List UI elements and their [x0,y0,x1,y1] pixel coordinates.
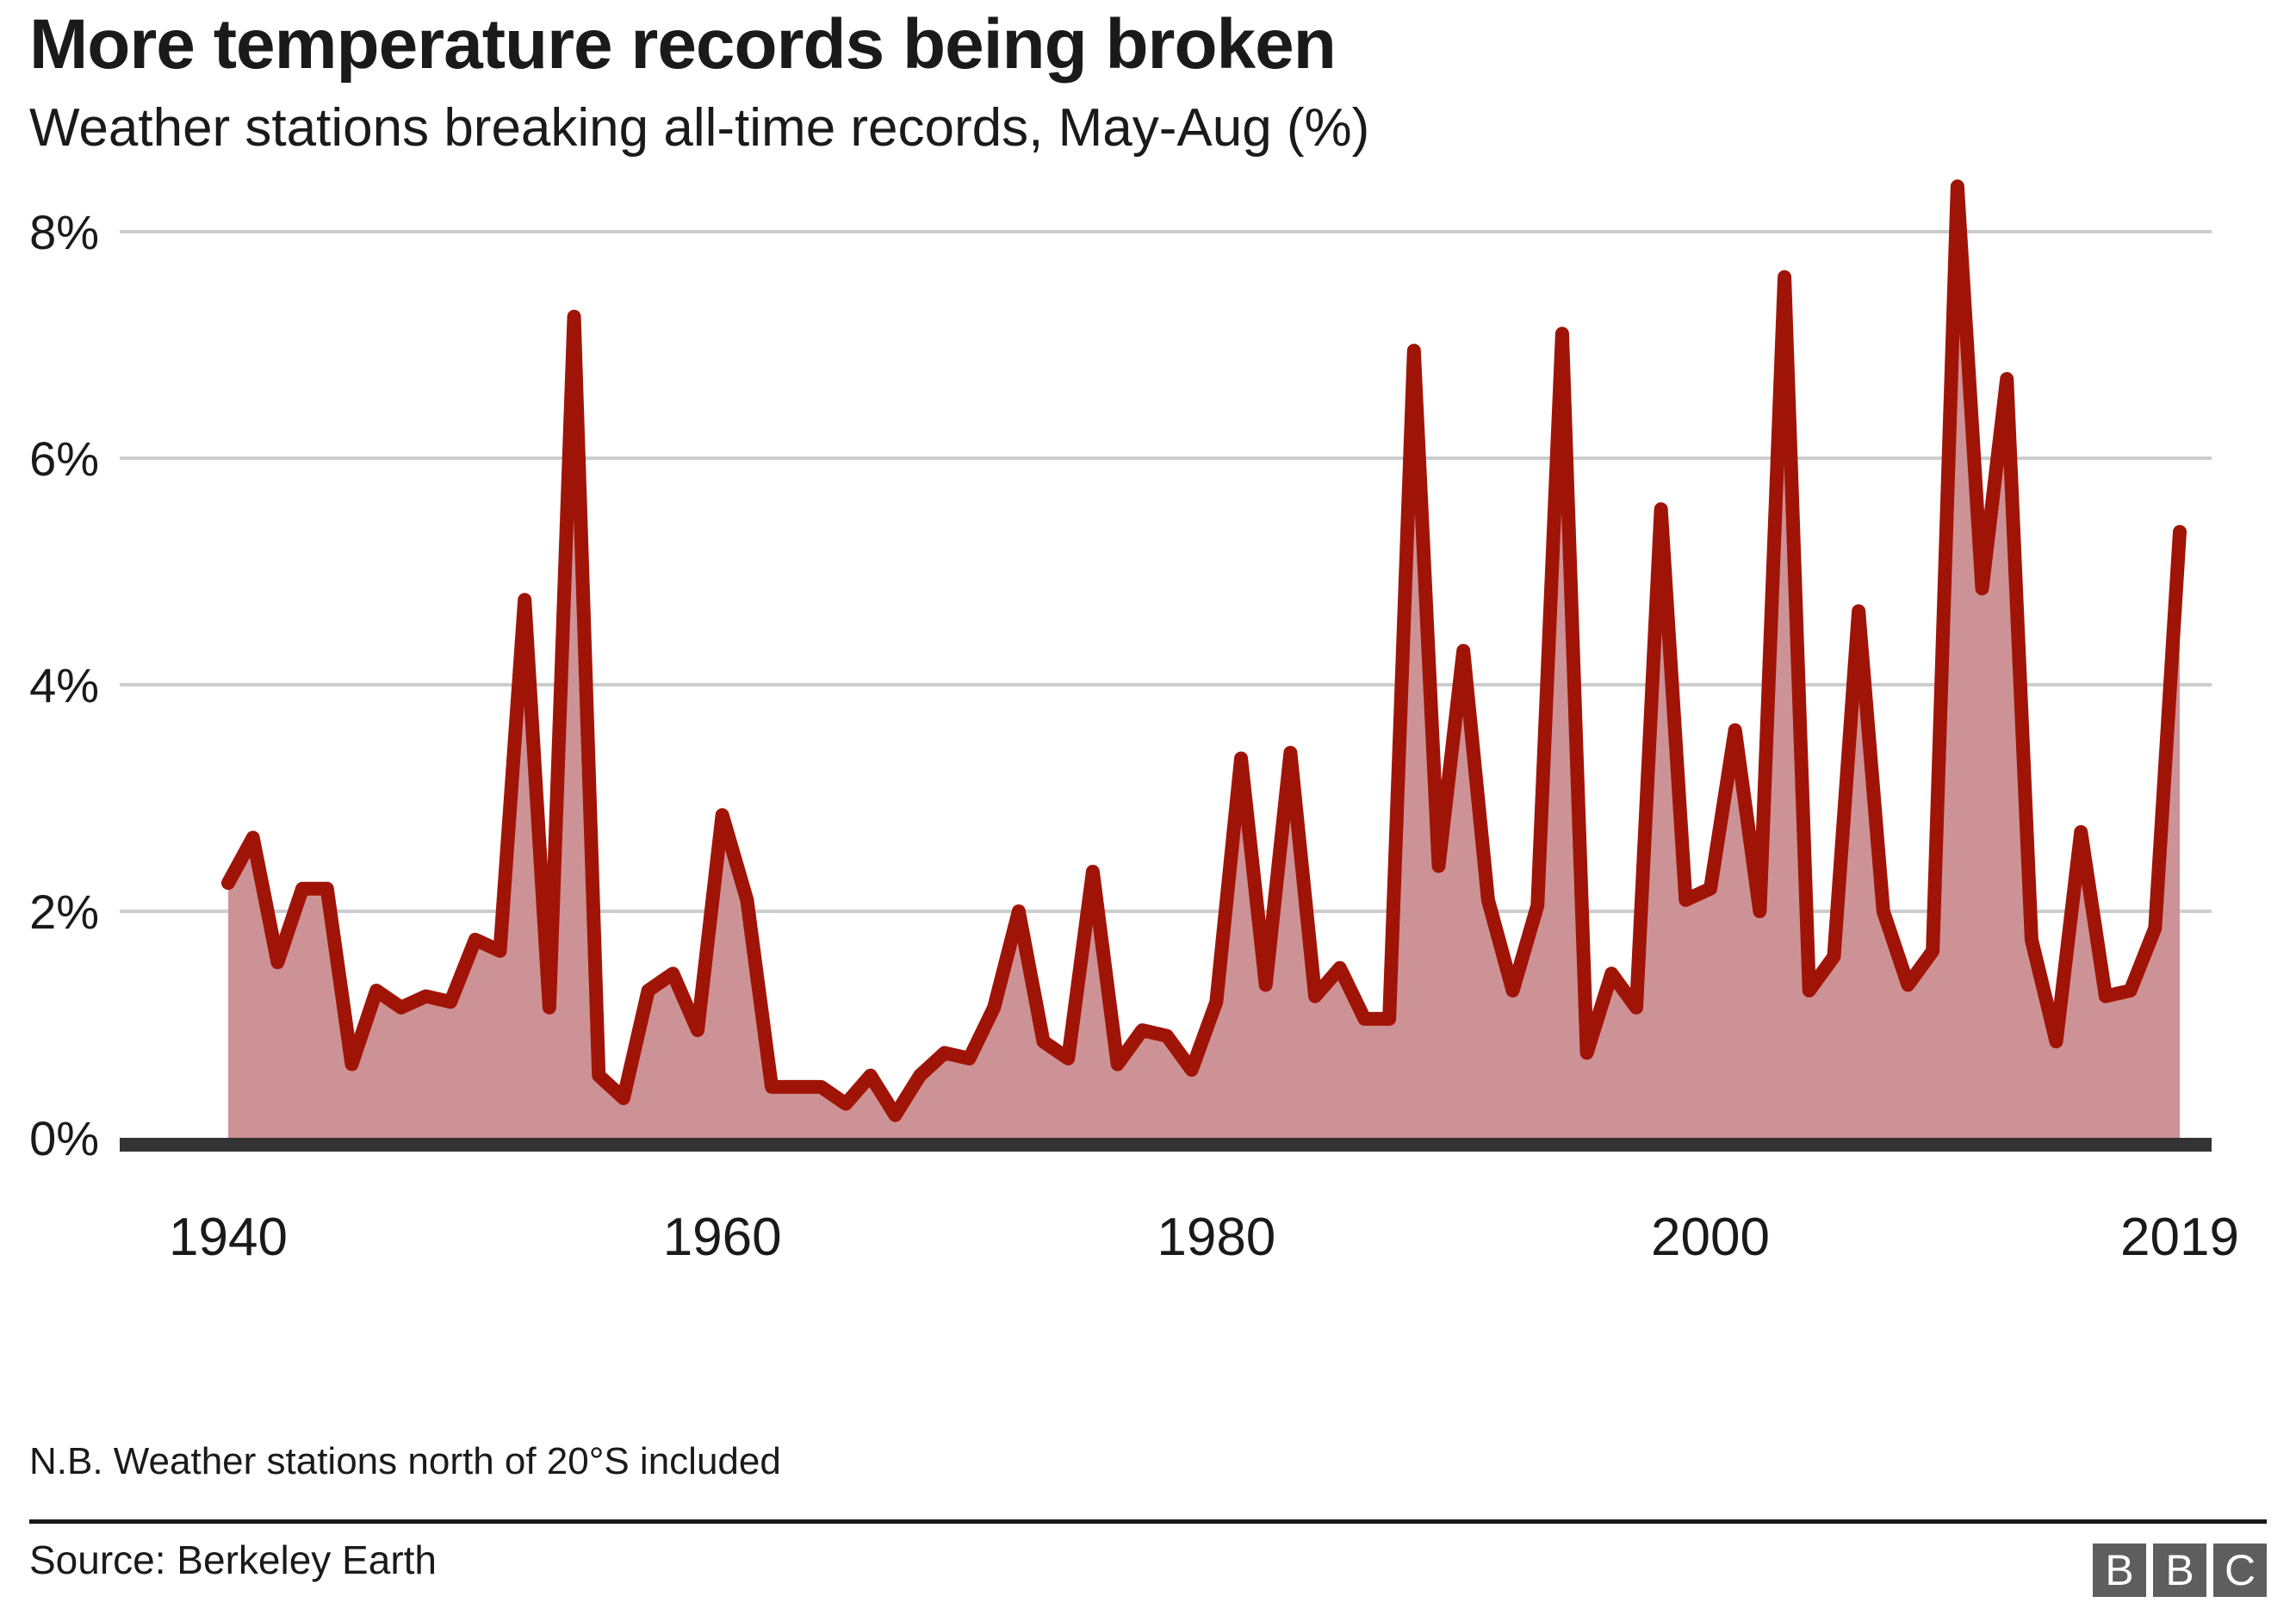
bbc-logo-letter-3: C [2213,1544,2267,1597]
footer-divider [29,1519,2267,1524]
chart-subtitle: Weather stations breaking all-time recor… [29,84,2267,158]
x-tick-label: 1980 [1157,1208,1275,1267]
x-tick-label: 2019 [2120,1208,2239,1267]
y-tick-label: 0% [29,1111,99,1165]
gridlines-group [120,232,2212,911]
bbc-logo-letter-1: B [2093,1544,2146,1597]
y-tick-label: 2% [29,885,99,939]
y-axis-tick-labels: 0%2%4%6%8% [29,205,99,1165]
y-tick-label: 6% [29,432,99,486]
x-tick-label: 1960 [663,1208,782,1267]
area-chart-svg: 0%2%4%6%8% 19401960198020002019 [29,177,2267,1322]
chart-plot-area: 0%2%4%6%8% 19401960198020002019 [29,177,2267,1322]
y-tick-label: 4% [29,658,99,712]
x-tick-label: 2000 [1651,1208,1770,1267]
bbc-logo: B B C [2093,1544,2267,1597]
chart-footnote: N.B. Weather stations north of 20°S incl… [29,1440,781,1483]
x-axis-tick-labels: 19401960198020002019 [169,1208,2239,1267]
x-tick-label: 1940 [169,1208,288,1267]
bbc-logo-letter-2: B [2153,1544,2206,1597]
chart-page: More temperature records being broken We… [0,0,2296,1615]
chart-source: Source: Berkeley Earth [29,1537,437,1583]
page-title: More temperature records being broken [29,0,2267,84]
y-tick-label: 8% [29,205,99,259]
